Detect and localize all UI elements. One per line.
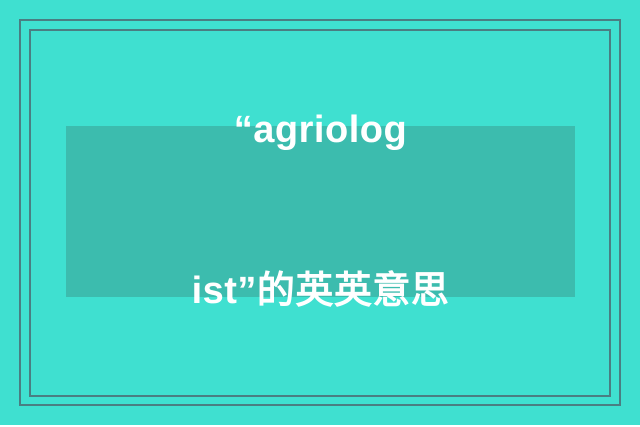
poster-title-line-1: “agriolog (66, 104, 575, 158)
poster-title-line-2: ist”的英英意思 (66, 265, 575, 319)
title-panel: “agriolog ist”的英英意思 (66, 126, 575, 297)
poster-canvas: “agriolog ist”的英英意思 (0, 0, 640, 425)
poster-title: “agriolog ist”的英英意思 (66, 0, 575, 427)
